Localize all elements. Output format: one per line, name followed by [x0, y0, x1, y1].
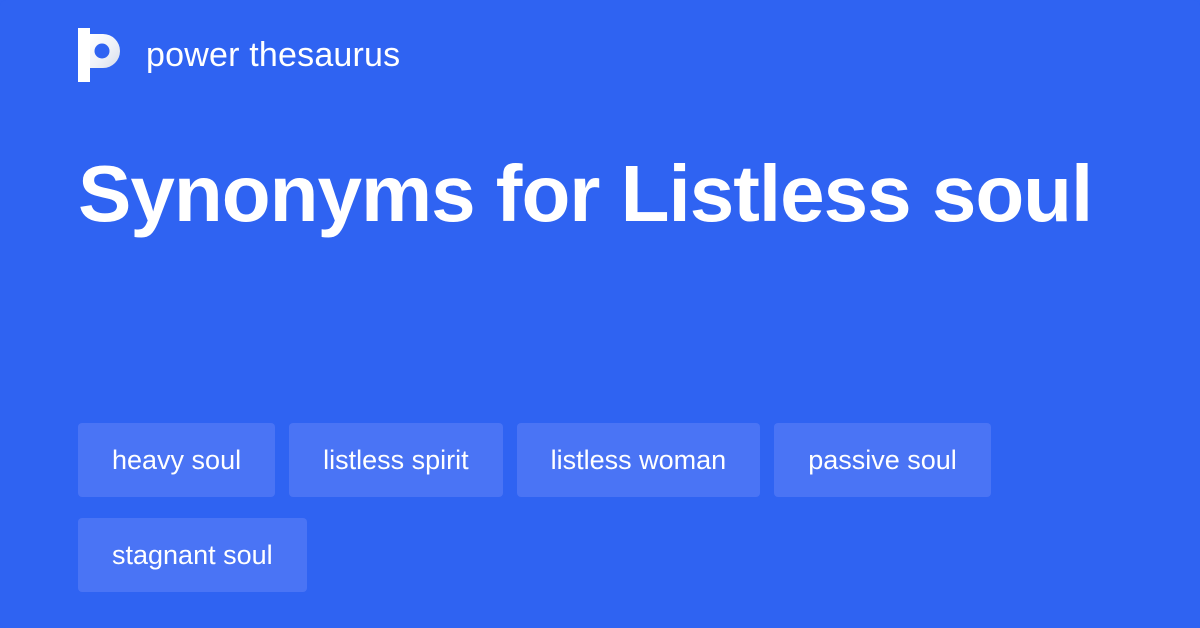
brand-header[interactable]: power thesaurus [78, 28, 400, 82]
synonym-chip[interactable]: stagnant soul [78, 518, 307, 592]
power-thesaurus-logo-icon [78, 28, 124, 82]
share-card: power thesaurus Synonyms for Listless so… [0, 0, 1200, 628]
synonym-chip[interactable]: heavy soul [78, 423, 275, 497]
synonym-chip[interactable]: listless woman [517, 423, 761, 497]
page-title: Synonyms for Listless soul [78, 140, 1118, 248]
synonym-chip[interactable]: listless spirit [289, 423, 503, 497]
synonym-chip-list: heavy soul listless spirit listless woma… [78, 423, 1138, 592]
synonym-chip[interactable]: passive soul [774, 423, 991, 497]
brand-name: power thesaurus [146, 38, 400, 72]
